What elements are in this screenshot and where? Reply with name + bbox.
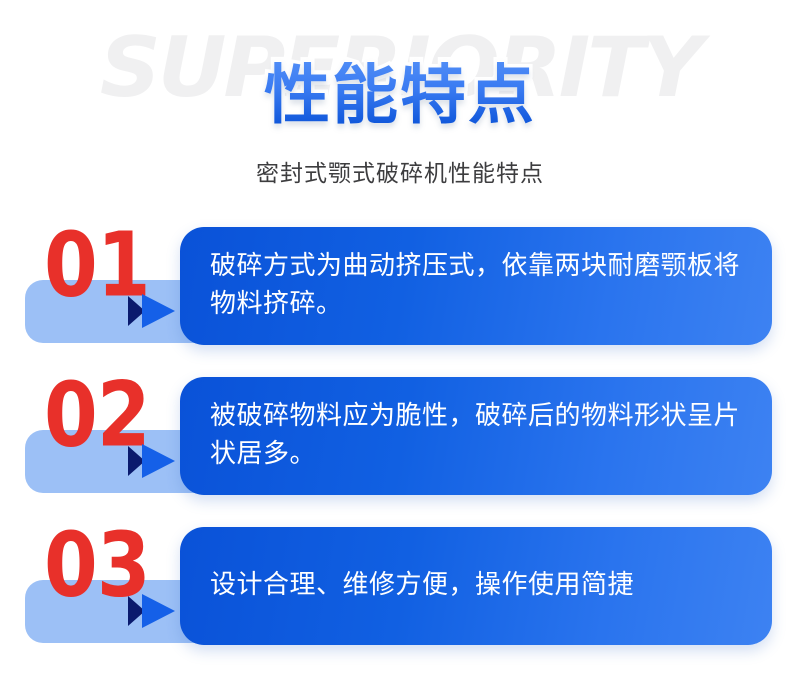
item-text: 设计合理、维修方便，操作使用简捷 [180, 567, 664, 605]
list-item: 01 破碎方式为曲动挤压式，依靠两块耐磨颚板将物料挤碎。 [0, 215, 800, 365]
page-title: 性能特点 [260, 62, 540, 128]
page-title-wrap: 性能特点 性能特点 [0, 62, 800, 128]
page-subtitle: 密封式颚式破碎机性能特点 [0, 160, 800, 190]
double-triangle-right-icon [128, 294, 184, 328]
double-triangle-right-icon [128, 594, 184, 628]
feature-list: 01 破碎方式为曲动挤压式，依靠两块耐磨颚板将物料挤碎。 02 被破碎物料应为脆… [0, 215, 800, 665]
page-header: SUPERIORITY 性能特点 性能特点 密封式颚式破碎机性能特点 [0, 0, 800, 215]
item-text: 破碎方式为曲动挤压式，依靠两块耐磨颚板将物料挤碎。 [180, 248, 772, 324]
double-triangle-right-icon [128, 444, 184, 478]
list-item: 03 设计合理、维修方便，操作使用简捷 [0, 515, 800, 665]
list-item: 02 被破碎物料应为脆性，破碎后的物料形状呈片状居多。 [0, 365, 800, 515]
item-bubble: 设计合理、维修方便，操作使用简捷 [180, 527, 772, 645]
item-bubble: 被破碎物料应为脆性，破碎后的物料形状呈片状居多。 [180, 377, 772, 495]
item-text: 被破碎物料应为脆性，破碎后的物料形状呈片状居多。 [180, 398, 772, 474]
item-bubble: 破碎方式为曲动挤压式，依靠两块耐磨颚板将物料挤碎。 [180, 227, 772, 345]
